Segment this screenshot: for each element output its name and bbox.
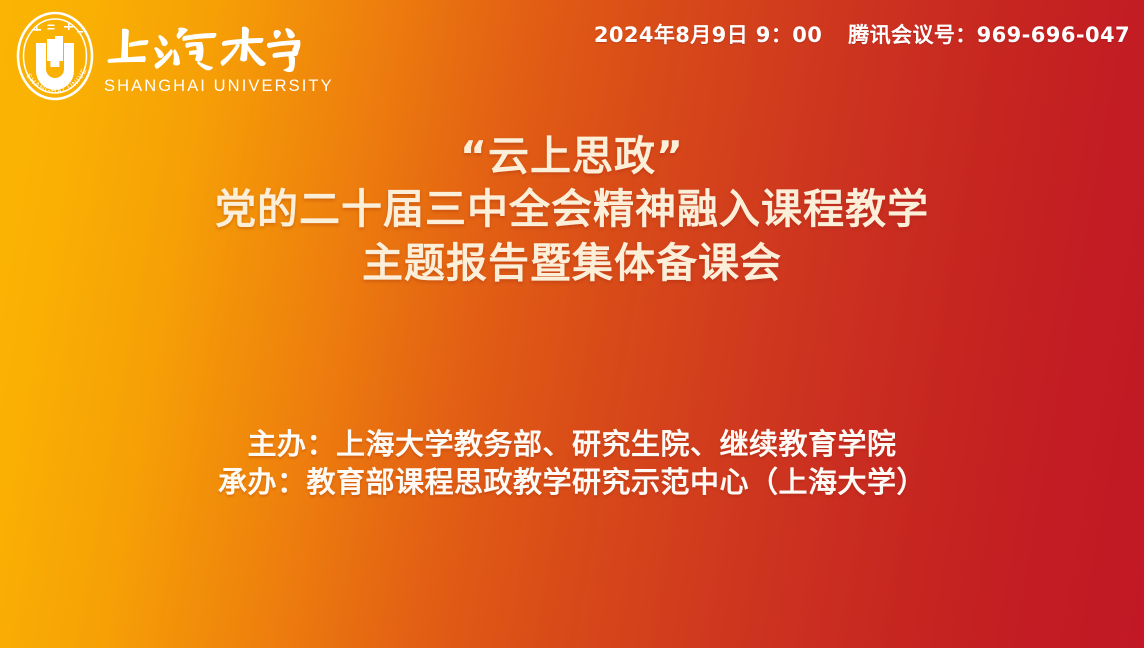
university-logo: SHANGHAI UNIVERSITY <box>14 6 334 106</box>
meeting-number: 腾讯会议号：969-696-047 <box>848 19 1130 49</box>
shanghai-university-seal-icon: SHANGHAI UNIVERSITY <box>14 9 96 103</box>
university-wordmark: SHANGHAI UNIVERSITY <box>102 17 334 95</box>
university-name-cn-calligraphy <box>102 19 302 75</box>
organizer-info: 主办：上海大学教务部、研究生院、继续教育学院 承办：教育部课程思政教学研究示范中… <box>0 425 1144 502</box>
university-name-en: SHANGHAI UNIVERSITY <box>104 78 334 95</box>
meeting-date-time: 2024年8月9日 9：00 <box>594 19 822 49</box>
title-line-2: 党的二十届三中全会精神融入课程教学 <box>0 183 1144 236</box>
event-title: “云上思政” 党的二十届三中全会精神融入课程教学 主题报告暨集体备课会 <box>0 130 1144 290</box>
title-line-1: “云上思政” <box>0 130 1144 183</box>
title-line-3: 主题报告暨集体备课会 <box>0 237 1144 290</box>
meeting-info: 2024年8月9日 9：00 腾讯会议号：969-696-047 <box>594 19 1130 49</box>
organizer-host: 主办：上海大学教务部、研究生院、继续教育学院 <box>0 425 1144 463</box>
presentation-slide: SHANGHAI UNIVERSITY <box>0 0 1144 648</box>
organizer-cohost: 承办：教育部课程思政教学研究示范中心（上海大学） <box>0 463 1144 501</box>
